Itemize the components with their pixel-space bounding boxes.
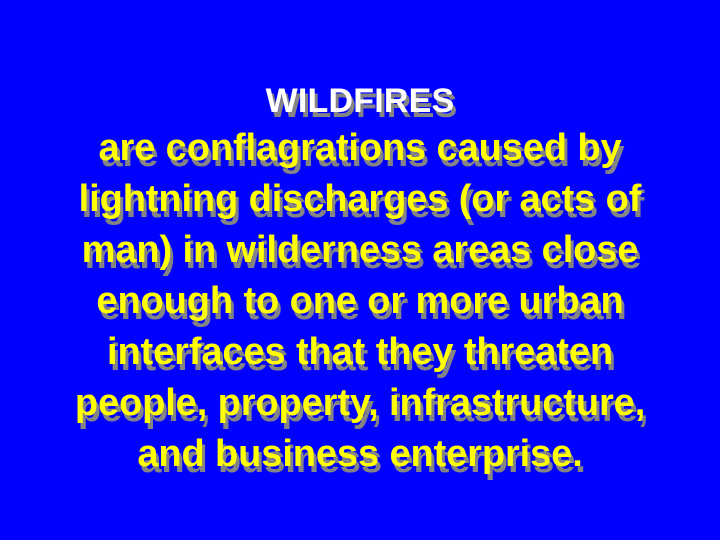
- body-line: and business enterprise.: [0, 429, 720, 480]
- body-line: man) in wilderness areas close: [0, 225, 720, 276]
- slide-text-block: WILDFIRES are conflagrations caused by l…: [0, 80, 720, 480]
- body-line: people, property, infrastructure,: [0, 378, 720, 429]
- body-line: lightning discharges (or acts of: [0, 174, 720, 225]
- slide-body-text: are conflagrations caused by lightning d…: [0, 123, 720, 480]
- presentation-slide: WILDFIRES are conflagrations caused by l…: [0, 0, 720, 540]
- body-line: interfaces that they threaten: [0, 327, 720, 378]
- body-line: enough to one or more urban: [0, 276, 720, 327]
- body-line: are conflagrations caused by: [0, 123, 720, 174]
- slide-title: WILDFIRES: [0, 80, 720, 122]
